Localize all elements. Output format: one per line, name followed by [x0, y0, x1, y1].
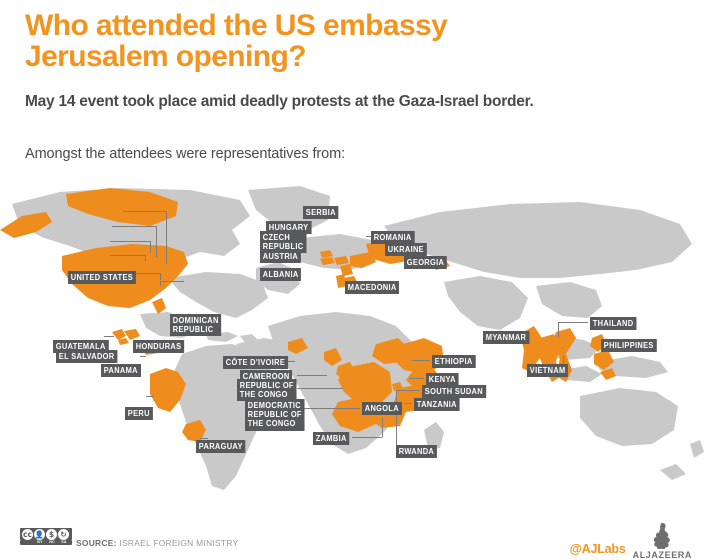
footer: cc 👤 $ ↻ BY NC SA SOURCE: ISRAEL FOREIGN… — [0, 516, 704, 557]
leader-line-czech-republic — [110, 241, 150, 242]
map-label-thailand: THAILAND — [590, 317, 636, 330]
leader-line-rwanda-v — [396, 391, 397, 450]
leader-line-hungary-v — [156, 226, 157, 258]
map-label-honduras: HONDURAS — [133, 340, 184, 353]
map-label-angola: ANGOLA — [362, 402, 402, 415]
source-value: ISRAEL FOREIGN MINISTRY — [119, 538, 238, 548]
map-label-cote-divoire: CÔTE D'IVOIRE — [223, 356, 288, 369]
aljazeera-logo-icon — [645, 522, 679, 549]
leader-line-tanzania — [404, 403, 412, 404]
country-united-states-florida — [152, 298, 166, 314]
map-label-ethiopia: ETHIOPIA — [432, 355, 475, 368]
leader-line-thailand — [558, 322, 588, 323]
leader-line-paraguay — [200, 438, 208, 439]
country-guatemala — [112, 329, 126, 340]
map-label-tanzania: TANZANIA — [414, 398, 460, 411]
leader-line-rep-congo — [297, 388, 343, 389]
cc-code-by: BY — [34, 540, 46, 544]
country-honduras — [124, 329, 140, 340]
leader-line-albania-v — [160, 273, 161, 280]
map-label-rwanda: RWANDA — [396, 445, 437, 458]
map-label-democratic-republic-of-the-congo: DEMOCRATIC REPUBLIC OF THE CONGO — [245, 399, 305, 431]
map-label-zambia: ZAMBIA — [313, 432, 349, 445]
map-label-dominican-republic: DOMINICAN REPUBLIC — [170, 314, 221, 336]
leader-line-austria — [110, 255, 145, 256]
leader-line-hungary — [112, 226, 156, 227]
leader-line-thailand-v — [558, 322, 559, 338]
page-standfirst: Amongst the attendees were representativ… — [25, 146, 625, 163]
source-label: SOURCE: — [76, 538, 117, 548]
cc-code-sa: SA — [58, 540, 70, 544]
cc-code-nc: NC — [46, 540, 58, 544]
cc-license-codes: BY NC SA — [20, 540, 72, 545]
map-label-el-salvador: EL SALVADOR — [56, 350, 117, 363]
leader-line-panama — [140, 356, 146, 357]
page-subtitle: May 14 event took place amid deadly prot… — [25, 92, 585, 112]
leader-line-angola — [352, 408, 360, 409]
cc-by-icon: 👤 — [34, 529, 45, 540]
header: Who attended the US embassy Jerusalem op… — [0, 0, 704, 182]
page-title: Who attended the US embassy Jerusalem op… — [25, 10, 585, 72]
leader-line-macedonia — [160, 281, 184, 282]
map-label-myanmar: MYANMAR — [483, 331, 529, 344]
map-label-serbia: SERBIA — [303, 206, 339, 219]
source-credit: SOURCE: ISRAEL FOREIGN MINISTRY — [76, 538, 238, 548]
leader-line-zambia — [352, 437, 382, 438]
map-label-ukraine: UKRAINE — [385, 243, 427, 256]
leader-line-south-sudan — [396, 390, 420, 391]
ajlabs-handle[interactable]: @AJLabs — [570, 542, 626, 560]
brand-block: @AJLabs ALJAZEERA — [570, 522, 692, 560]
cc-nc-icon: $ — [46, 529, 57, 540]
leader-line-cameroon — [297, 375, 327, 376]
map-label-paraguay: PARAGUAY — [196, 440, 246, 453]
aljazeera-wordmark: ALJAZEERA — [633, 550, 692, 560]
leader-line-austria-v — [145, 255, 146, 261]
creative-commons-badge[interactable]: cc 👤 $ ↻ BY NC SA — [20, 528, 72, 545]
leader-line-czech-v — [150, 241, 151, 253]
map-label-albania: ALBANIA — [260, 268, 301, 281]
map-label-austria: AUSTRIA — [260, 250, 301, 263]
leader-line-serbia — [123, 211, 166, 212]
leader-line-guatemala — [104, 336, 114, 337]
cc-license-icons: cc 👤 $ ↻ — [20, 528, 72, 540]
leader-line-ethiopia — [412, 360, 430, 361]
cc-sa-icon: ↻ — [58, 529, 69, 540]
leader-line-serbia-v — [166, 211, 167, 264]
map-label-republic-of-the-congo: REPUBLIC OF THE CONGO — [237, 379, 297, 401]
leader-line-peru — [146, 396, 154, 397]
map-label-georgia: GEORGIA — [404, 256, 447, 269]
leader-line-kenya — [410, 378, 424, 379]
map-label-philippines: PHILIPPINES — [601, 339, 656, 352]
leader-line-drc — [300, 408, 356, 409]
leader-line-zambia-v — [382, 418, 383, 437]
map-label-kenya: KENYA — [426, 373, 459, 386]
map-label-macedonia: MACEDONIA — [345, 281, 399, 294]
map-label-south-sudan: SOUTH SUDAN — [422, 385, 486, 398]
map-label-vietnam: VIETNAM — [527, 364, 568, 377]
map-label-peru: PERU — [125, 407, 153, 420]
map-label-panama: PANAMA — [101, 364, 141, 377]
cc-icon: cc — [22, 529, 33, 540]
leader-line-macedonia-v — [160, 281, 161, 286]
map-label-united-states: UNITED STATES — [68, 271, 136, 284]
map-label-romania: ROMANIA — [371, 231, 414, 244]
